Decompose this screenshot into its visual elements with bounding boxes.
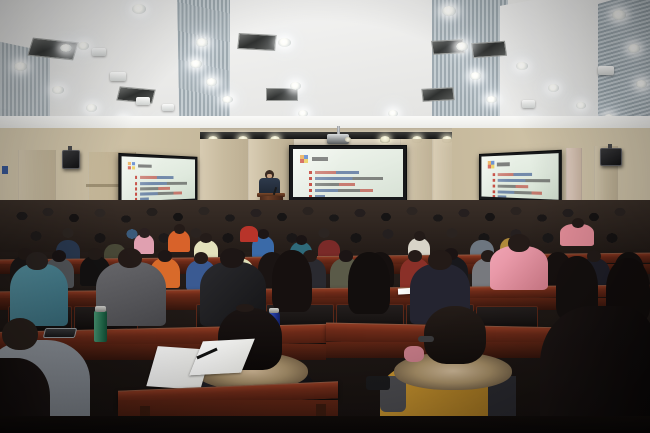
thermos-cap: [95, 306, 106, 312]
track-spotlight: [380, 136, 390, 143]
hvac-vent: [237, 33, 277, 51]
ceiling-downlight: [190, 60, 202, 68]
left-screen-frame: [118, 153, 197, 206]
ceiling-downlight: [576, 102, 586, 109]
thermos-cap: [269, 308, 279, 313]
speaker-bracket-right: [608, 144, 612, 149]
foreground-head: [424, 306, 486, 364]
speaker-bracket-left: [68, 146, 72, 151]
right-screen-frame: [479, 150, 562, 205]
ceiling-downlight: [222, 96, 233, 103]
attendee-head: [414, 231, 425, 241]
ceiling-downlight: [470, 72, 481, 80]
attendee-head: [587, 250, 601, 262]
ceiling-speaker: [598, 66, 614, 75]
ceiling-downlight: [196, 38, 208, 47]
ceiling-speaker: [110, 72, 126, 81]
ceiling-downlight: [442, 6, 456, 16]
ceiling-panel-center: [230, 0, 440, 126]
center-screen-surface: [293, 149, 403, 197]
green-thermos: [94, 310, 107, 342]
attendee-head: [296, 235, 307, 245]
attendee-head: [508, 234, 530, 252]
ceiling-downlight: [86, 104, 97, 112]
ceiling-speaker: [162, 104, 174, 111]
attendee-head: [88, 248, 102, 260]
ceiling-downlight: [52, 86, 64, 94]
attendee-head: [220, 248, 244, 268]
attendee-head: [258, 229, 269, 239]
ceiling: [0, 0, 650, 132]
ceiling-downlight: [60, 44, 72, 52]
attendee-head: [52, 250, 66, 262]
wall-speaker-right: [600, 148, 622, 166]
floor-foreground: [0, 416, 650, 433]
attendee-long-hair: [272, 250, 312, 312]
attendee-head: [572, 218, 584, 228]
ceiling-downlight: [516, 62, 528, 70]
audience-area: [0, 200, 650, 433]
attendee-head: [174, 224, 185, 234]
ceiling-speaker: [522, 100, 535, 108]
handheld-device: [366, 376, 390, 390]
ceiling-downlight: [290, 82, 301, 90]
ceiling-downlight: [206, 78, 217, 86]
ceiling-downlight: [612, 10, 626, 20]
foreground-long-hair-right: [540, 306, 650, 433]
scarf: [404, 346, 424, 362]
ceiling-downlight: [132, 4, 146, 14]
attendee-head: [139, 228, 150, 238]
tablet-device[interactable]: [43, 328, 77, 338]
attendee-teal-puffer: [10, 264, 68, 326]
ceiling-downlight: [628, 44, 640, 53]
wall-notice-left: [2, 166, 8, 174]
attendee-long-hair: [348, 252, 390, 314]
screen-glare: [293, 149, 403, 197]
ceiling-speaker: [92, 48, 106, 56]
ceiling-speaker: [136, 97, 150, 105]
center-screen-frame: [289, 145, 407, 202]
attendee-head: [408, 250, 422, 262]
projector-lens: [345, 137, 351, 142]
attendee-pink-coat-right: [490, 246, 548, 290]
attendee-head: [26, 252, 48, 270]
presenter-face: [267, 174, 272, 178]
hvac-vent: [421, 87, 454, 102]
ceiling-downlight: [14, 62, 27, 71]
ceiling-downlight: [78, 42, 89, 50]
foreground-head: [2, 318, 38, 350]
hair-tie: [236, 304, 254, 312]
right-screen-surface: [481, 153, 558, 200]
ceiling-downlight: [636, 80, 647, 88]
ceiling-downlight: [278, 38, 291, 47]
ceiling-downlight: [486, 96, 497, 103]
wall-speaker-left: [62, 150, 80, 169]
ceiling-downlight: [456, 42, 468, 51]
ceiling-slat-band-right: [432, 0, 508, 132]
screen-glare: [481, 153, 558, 200]
attendee-head: [118, 248, 142, 268]
attendee-head: [194, 252, 208, 264]
ceiling-downlight: [548, 84, 559, 92]
attendee-head: [200, 233, 212, 243]
attendee-head: [339, 250, 353, 262]
attendee-red-coat: [240, 226, 258, 242]
eyeglasses-icon: [418, 336, 434, 342]
hvac-vent: [266, 88, 298, 101]
attendee-head: [428, 250, 452, 270]
screen-glare: [122, 156, 195, 201]
hvac-vent: [471, 41, 507, 58]
attendee-head: [158, 250, 172, 262]
lecture-hall-photo: [0, 0, 650, 433]
left-screen-surface: [122, 156, 195, 201]
